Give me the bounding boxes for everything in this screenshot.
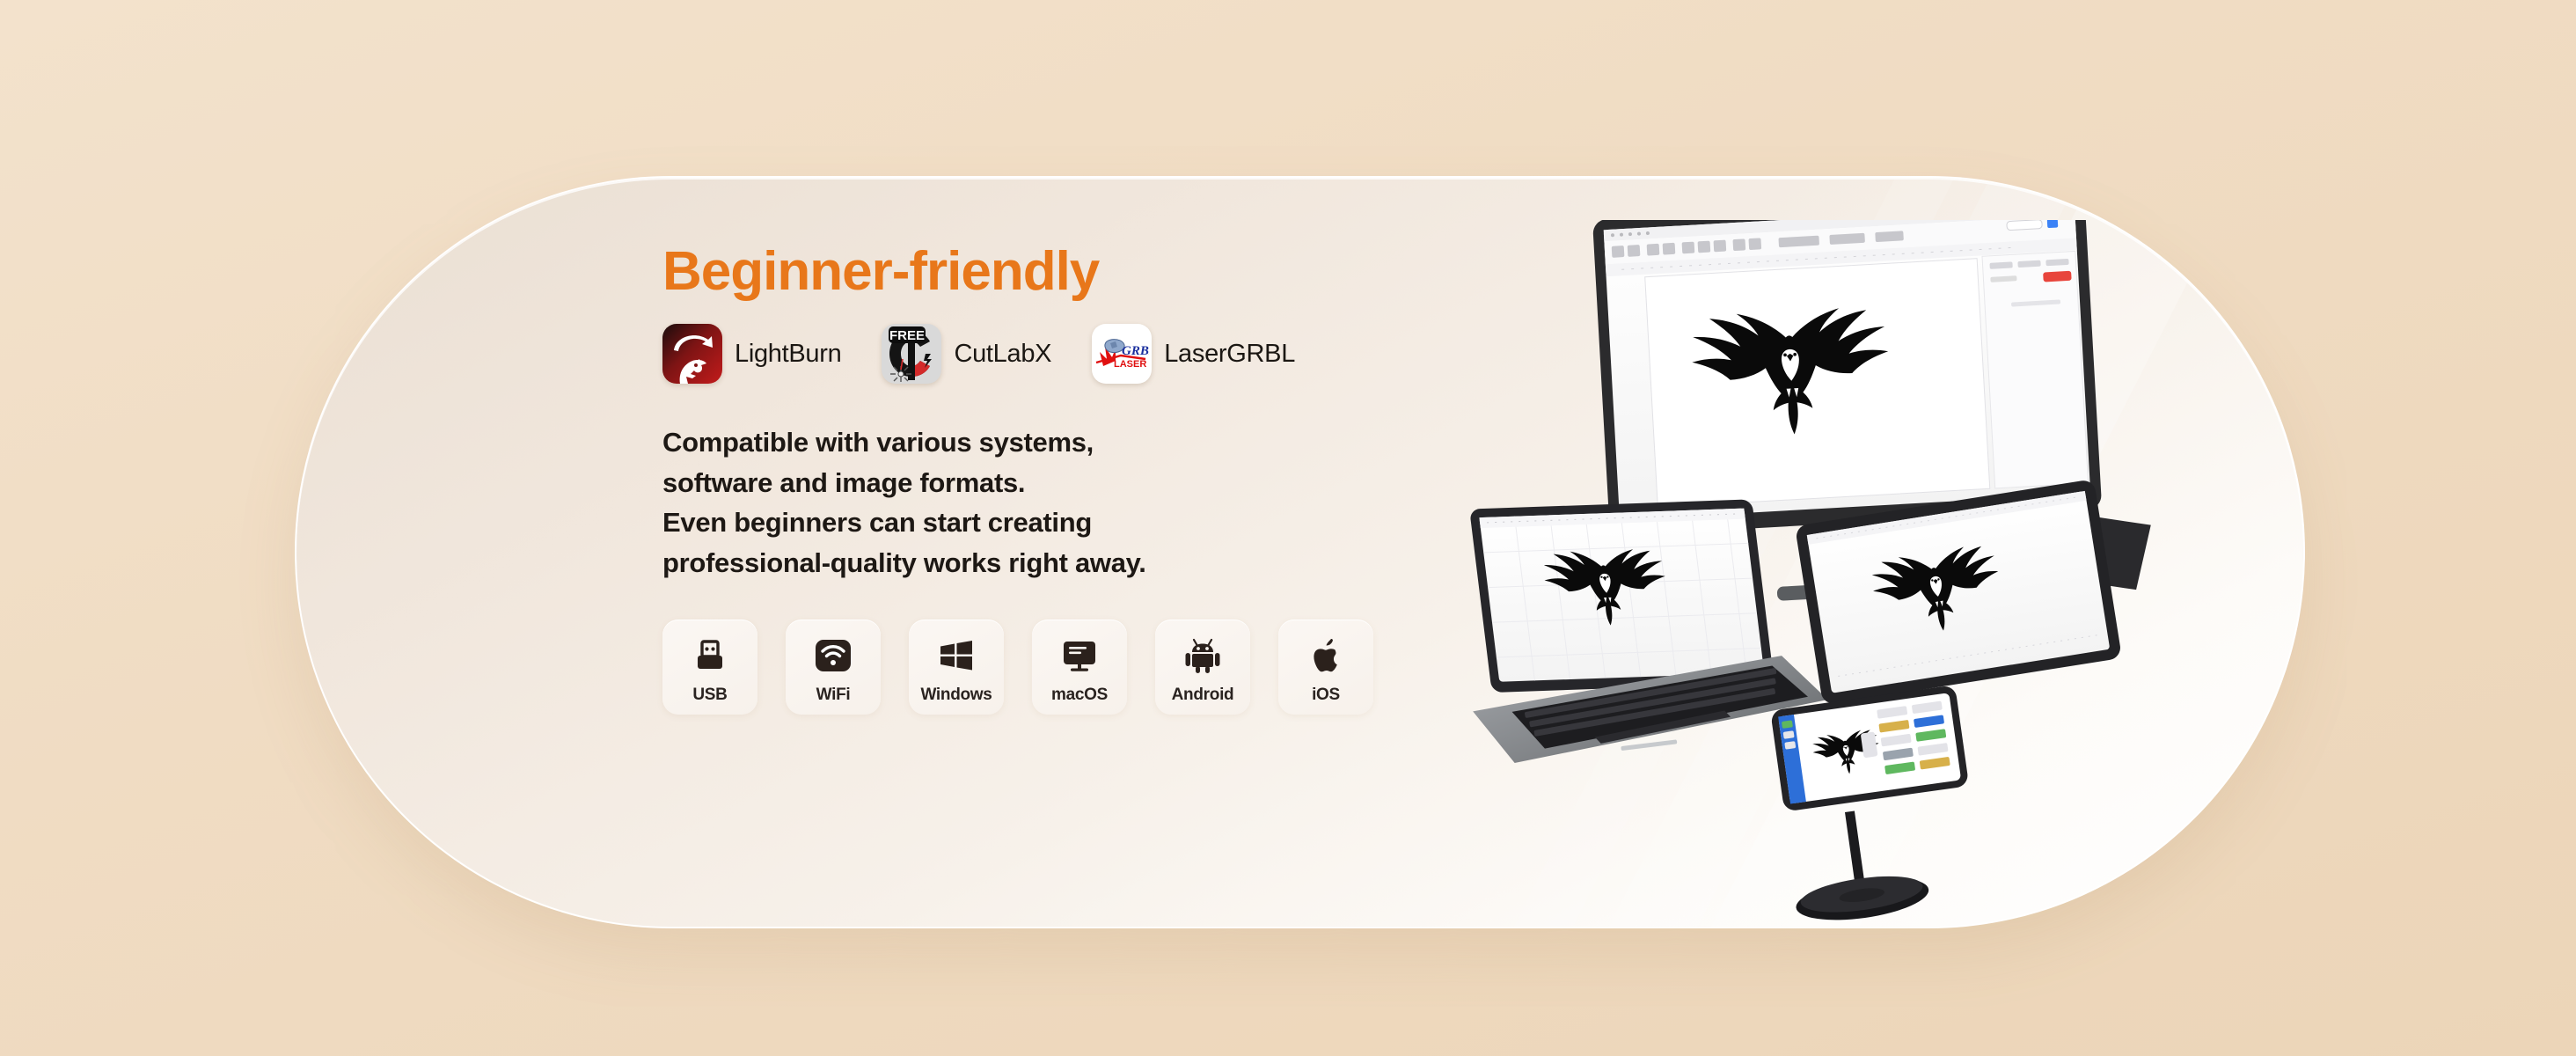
description-text: Compatible with various systems, softwar…: [662, 422, 1454, 583]
platform-tile-ios[interactable]: iOS: [1278, 620, 1373, 715]
platform-label: macOS: [1051, 686, 1108, 705]
software-label: LightBurn: [735, 340, 841, 369]
page-title: Beginner-friendly: [662, 245, 1454, 299]
software-item-lasergrbl[interactable]: GRBL LASER LaserGRBL: [1092, 324, 1295, 384]
software-label: CutLabX: [954, 340, 1051, 369]
lasergrbl-logo: GRBL LASER: [1092, 324, 1152, 384]
windows-icon: [936, 634, 977, 678]
software-item-lightburn[interactable]: LightBurn: [662, 324, 841, 384]
lasergrbl-logo-text-grbl: GRBL: [1122, 344, 1149, 358]
phone-on-stand: [1768, 685, 1985, 924]
usb-icon: [690, 634, 730, 678]
device-mockup-cluster: [1425, 220, 2481, 924]
platform-label: WiFi: [816, 686, 851, 705]
description-line-4: professional-quality works right away.: [662, 543, 1454, 583]
lightburn-logo: [662, 324, 722, 384]
platform-label: iOS: [1312, 686, 1340, 705]
cutlabx-free-badge-text: FREE: [889, 328, 925, 343]
android-icon: [1182, 634, 1223, 678]
platform-tile-macos[interactable]: macOS: [1032, 620, 1127, 715]
platform-label: USB: [692, 686, 727, 705]
platform-label: Windows: [920, 686, 992, 705]
wifi-icon: [813, 634, 853, 678]
content-column: Beginner-friendly LightBurn: [662, 245, 1454, 715]
platform-tile-android[interactable]: Android: [1155, 620, 1250, 715]
software-label: LaserGRBL: [1164, 340, 1295, 369]
software-item-cutlabx[interactable]: FREE CutLabX: [882, 324, 1051, 384]
imac-icon: [1059, 634, 1100, 678]
cutlabx-logo: FREE: [882, 324, 941, 384]
description-line-3: Even beginners can start creating: [662, 502, 1454, 543]
software-compatibility-list: LightBurn FREE: [662, 324, 1454, 384]
description-line-2: software and image formats.: [662, 463, 1454, 503]
platform-label: Android: [1172, 686, 1234, 705]
apple-icon: [1306, 634, 1346, 678]
description-line-1: Compatible with various systems,: [662, 422, 1454, 463]
platform-tile-windows[interactable]: Windows: [909, 620, 1004, 715]
platform-tile-usb[interactable]: USB: [662, 620, 757, 715]
platform-tile-wifi[interactable]: WiFi: [786, 620, 881, 715]
platform-support-list: USB WiFi Windo: [662, 620, 1454, 715]
lasergrbl-logo-text-laser: LASER: [1114, 359, 1146, 370]
